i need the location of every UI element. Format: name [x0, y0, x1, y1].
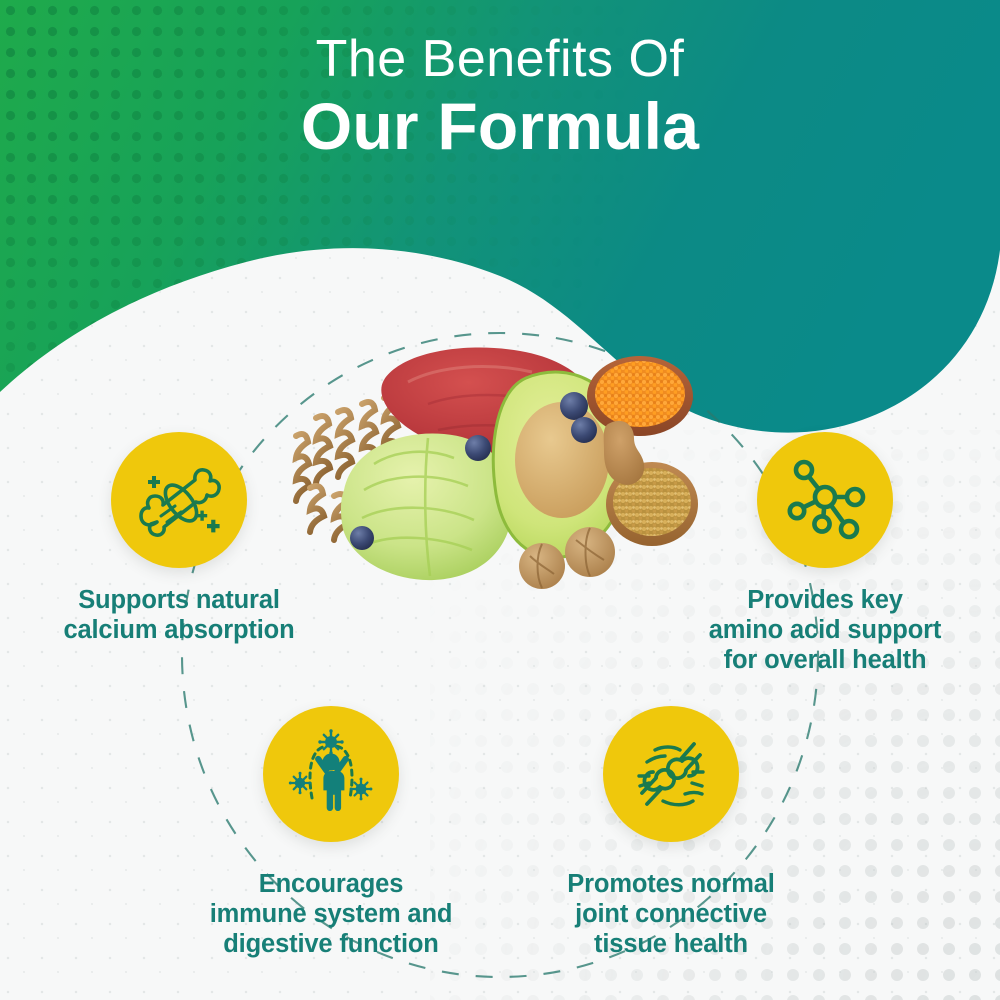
benefit-joint[interactable]: Promotes normal joint connective tissue …	[508, 706, 834, 959]
title-block: The Benefits Of Our Formula	[0, 30, 1000, 164]
title-line-1: The Benefits Of	[0, 30, 1000, 88]
immune-person-icon	[285, 728, 377, 820]
benefits-infographic: The Benefits Of Our Formula	[0, 0, 1000, 1000]
molecule-icon	[780, 455, 870, 545]
benefit-joint-label: Promotes normal joint connective tissue …	[508, 870, 834, 959]
benefit-immune-icon-circle[interactable]	[263, 706, 399, 842]
sparkle-plus-group	[148, 476, 220, 532]
page-title: Our Formula	[0, 90, 1000, 164]
benefit-joint-icon-circle[interactable]	[603, 706, 739, 842]
food-lentil-bowl	[587, 356, 693, 436]
benefit-amino-label: Provides key amino acid support for over…	[660, 586, 990, 675]
benefit-immune[interactable]: Encourages immune system and digestive f…	[168, 706, 494, 959]
food-blueberry	[350, 526, 374, 550]
joint-bone-icon	[625, 728, 717, 820]
food-blueberry	[571, 417, 597, 443]
benefit-calcium[interactable]: Supports natural calcium absorption	[10, 432, 348, 646]
person-figure	[315, 754, 349, 812]
food-blueberry	[465, 435, 491, 461]
benefit-amino[interactable]: Provides key amino acid support for over…	[660, 432, 990, 675]
benefit-calcium-icon-circle[interactable]	[111, 432, 247, 568]
benefit-immune-label: Encourages immune system and digestive f…	[168, 870, 494, 959]
bone-icon	[133, 454, 225, 546]
benefit-calcium-label: Supports natural calcium absorption	[10, 586, 348, 646]
avocado-pit	[515, 402, 609, 518]
benefit-amino-icon-circle[interactable]	[757, 432, 893, 568]
food-walnut	[565, 527, 615, 577]
food-blueberry	[560, 392, 588, 420]
